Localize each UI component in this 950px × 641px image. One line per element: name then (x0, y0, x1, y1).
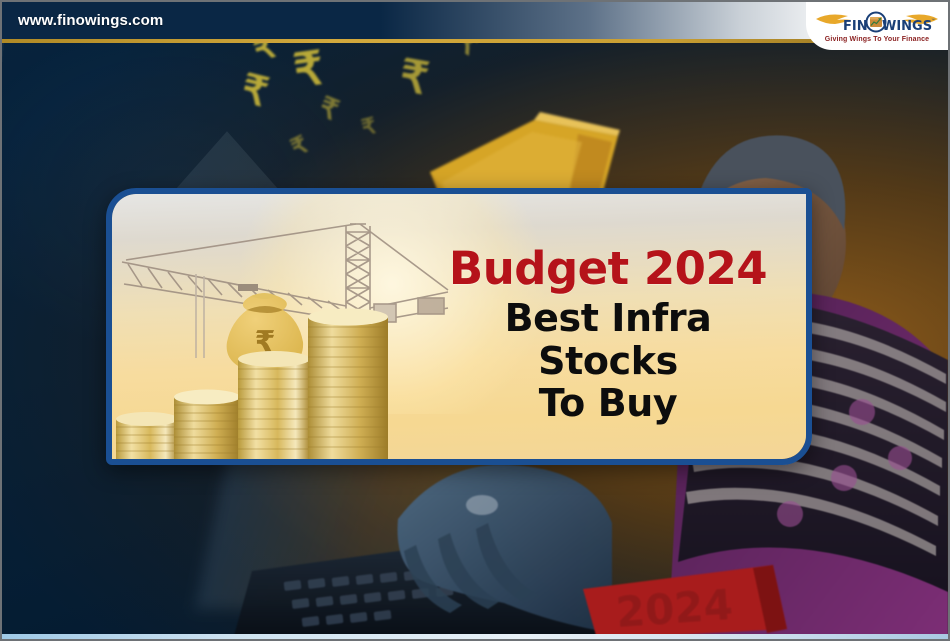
logo-wordmark-icon: FIN WINGS ™ (815, 10, 939, 36)
gold-divider (2, 39, 948, 43)
svg-text:FIN: FIN (843, 19, 868, 34)
poster-frame: ₹ ₹ ₹ ₹ ₹ ₹ ₹ ₹ (0, 0, 950, 641)
rupee-icon: ₹ (314, 90, 343, 127)
logo-tagline: Giving Wings To Your Finance (825, 36, 929, 43)
brand-logo[interactable]: FIN WINGS ™ Giving Wings To Your Finance (806, 2, 948, 50)
bottom-divider (2, 634, 948, 639)
headline-budget: Budget 2024 (432, 246, 784, 291)
rupee-icon: ₹ (359, 113, 379, 142)
card-headline-group: Budget 2024 Best Infra Stocks To Buy (432, 246, 784, 425)
rupee-icon: ₹ (237, 66, 273, 117)
svg-text:™: ™ (931, 18, 936, 24)
subheadline-line-2: To Buy (432, 382, 784, 425)
rupee-icon: ₹ (286, 130, 312, 163)
hand-keyboard-image (192, 453, 612, 641)
coin-stacks-icon (112, 279, 442, 459)
headline-card: ₹ (106, 188, 812, 465)
rupee-icon: ₹ (290, 40, 327, 98)
subheadline-line-1: Best Infra Stocks (432, 297, 784, 382)
site-url-label: www.finowings.com (18, 12, 163, 29)
briefcase-year-label: 2024 (614, 580, 734, 637)
budget-briefcase: 2024 (577, 559, 792, 639)
svg-text:WINGS: WINGS (882, 19, 932, 34)
